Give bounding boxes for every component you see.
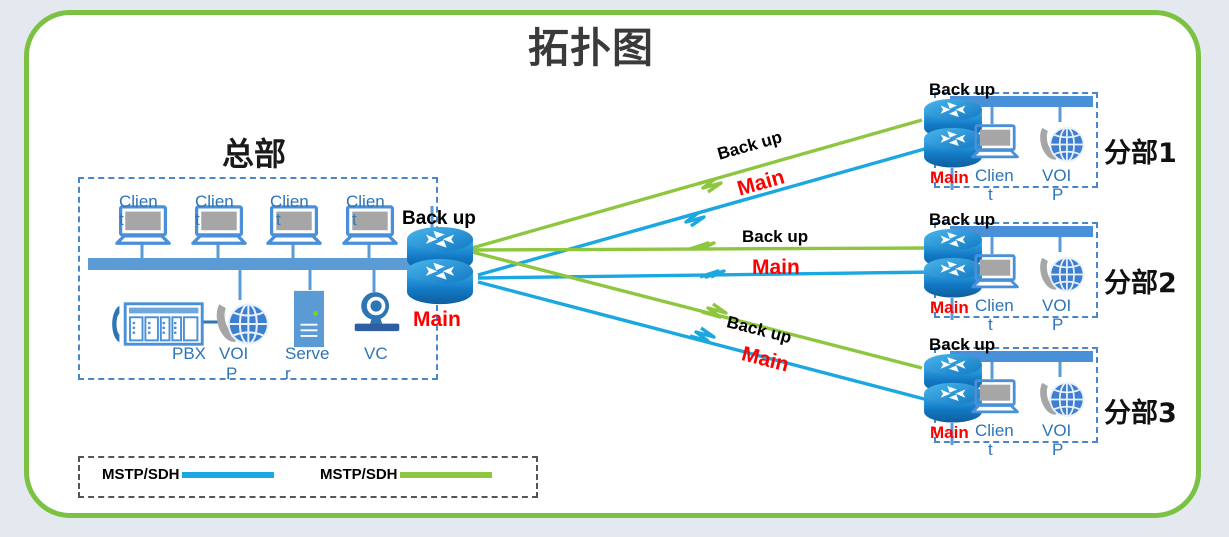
branch3-client-laptop-icon <box>971 379 1019 416</box>
branch3-router-main-label: Main <box>930 423 969 443</box>
legend: MSTP/SDH MSTP/SDH <box>78 456 538 498</box>
topology-diagram-canvas: 拓扑图 <box>0 0 1229 537</box>
legend-label-main: MSTP/SDH <box>102 466 180 483</box>
branch3-router-backup-label: Back up <box>929 335 995 355</box>
legend-swatch-main <box>182 472 274 478</box>
branch3-title: 分部3 <box>1104 391 1177 430</box>
branch3-client-label-cont: t <box>988 440 993 460</box>
branch3-voip-globe-icon <box>1031 375 1087 424</box>
branch3-client-label: Clien <box>975 421 1014 441</box>
legend-item-backup: MSTP/SDH <box>320 466 492 483</box>
legend-item-main: MSTP/SDH <box>102 466 274 483</box>
legend-swatch-backup <box>400 472 492 478</box>
branch3-voip-label: VOI <box>1042 421 1071 441</box>
legend-label-backup: MSTP/SDH <box>320 466 398 483</box>
branch3-voip-label-cont: P <box>1052 440 1063 460</box>
